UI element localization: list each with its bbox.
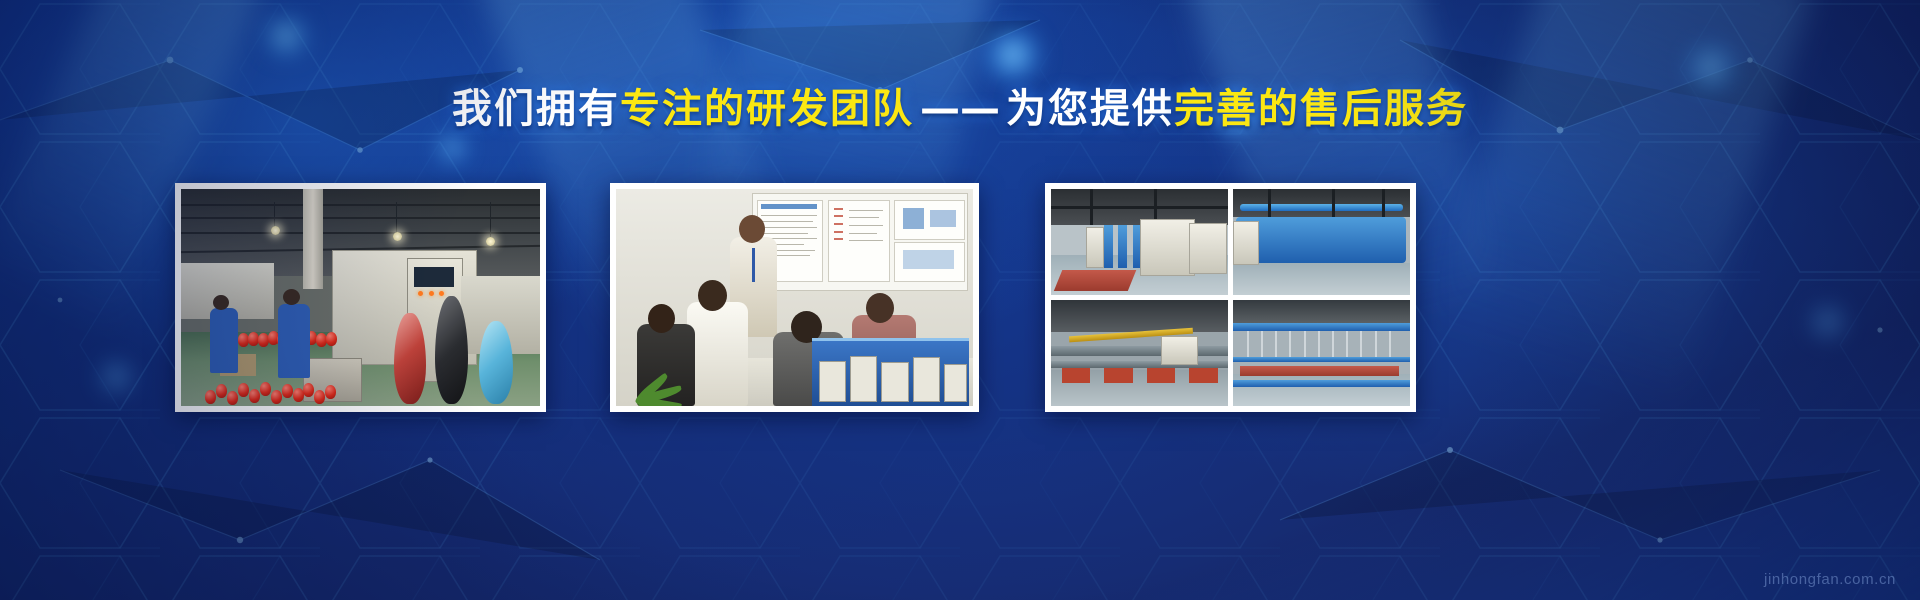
glow-node-7: [1802, 300, 1854, 344]
glow-node-3: [978, 26, 1048, 84]
photo-panel-factory-coating-line[interactable]: [175, 183, 546, 412]
equipment-view-conveyor-rail: [1051, 300, 1228, 406]
vase-red: [394, 313, 426, 404]
vase-blue: [479, 321, 514, 404]
promo-banner: 我们拥有专注的研发团队——为您提供完善的售后服务: [0, 0, 1920, 600]
worker-left: [210, 308, 239, 373]
red-product-pile: [203, 371, 339, 406]
headline-segment-4: 完善的售后服务: [1174, 86, 1468, 132]
headline-segment-1: 我们拥有: [452, 86, 620, 132]
machine-display: [812, 338, 969, 406]
equipment-view-oven-tunnel: [1051, 189, 1228, 295]
person-woman-right-head: [866, 293, 894, 323]
equipment-view-blue-tunnel: [1233, 189, 1410, 295]
person-woman-left-head: [648, 304, 675, 333]
product-vases: [385, 280, 536, 406]
headline-segment-2: 专注的研发团队: [620, 86, 914, 132]
photo-production-equipment: [1051, 189, 1410, 406]
site-watermark: jinhongfan.com.cn: [1764, 571, 1896, 588]
photo-panel-customer-meeting[interactable]: [610, 183, 979, 412]
photo-customer-meeting: [616, 189, 973, 406]
person-standing-head: [739, 215, 765, 243]
worker-center-head: [283, 289, 300, 305]
potted-plant: [623, 332, 716, 406]
banner-headline: 我们拥有专注的研发团队——为您提供完善的售后服务: [0, 86, 1920, 132]
headline-segment-3: 为您提供: [1006, 86, 1174, 132]
photo-factory-coating-line: [181, 189, 540, 406]
glow-node-2: [432, 130, 472, 166]
worker-center: [278, 304, 310, 378]
headline-dash: ——: [914, 86, 1006, 132]
vase-black: [435, 296, 468, 404]
technical-poster-board: [752, 193, 968, 290]
glow-node-6: [92, 356, 140, 398]
glow-node-1: [258, 12, 314, 60]
equipment-view-hanging-line: [1233, 300, 1410, 406]
photo-panel-production-equipment[interactable]: [1045, 183, 1416, 412]
